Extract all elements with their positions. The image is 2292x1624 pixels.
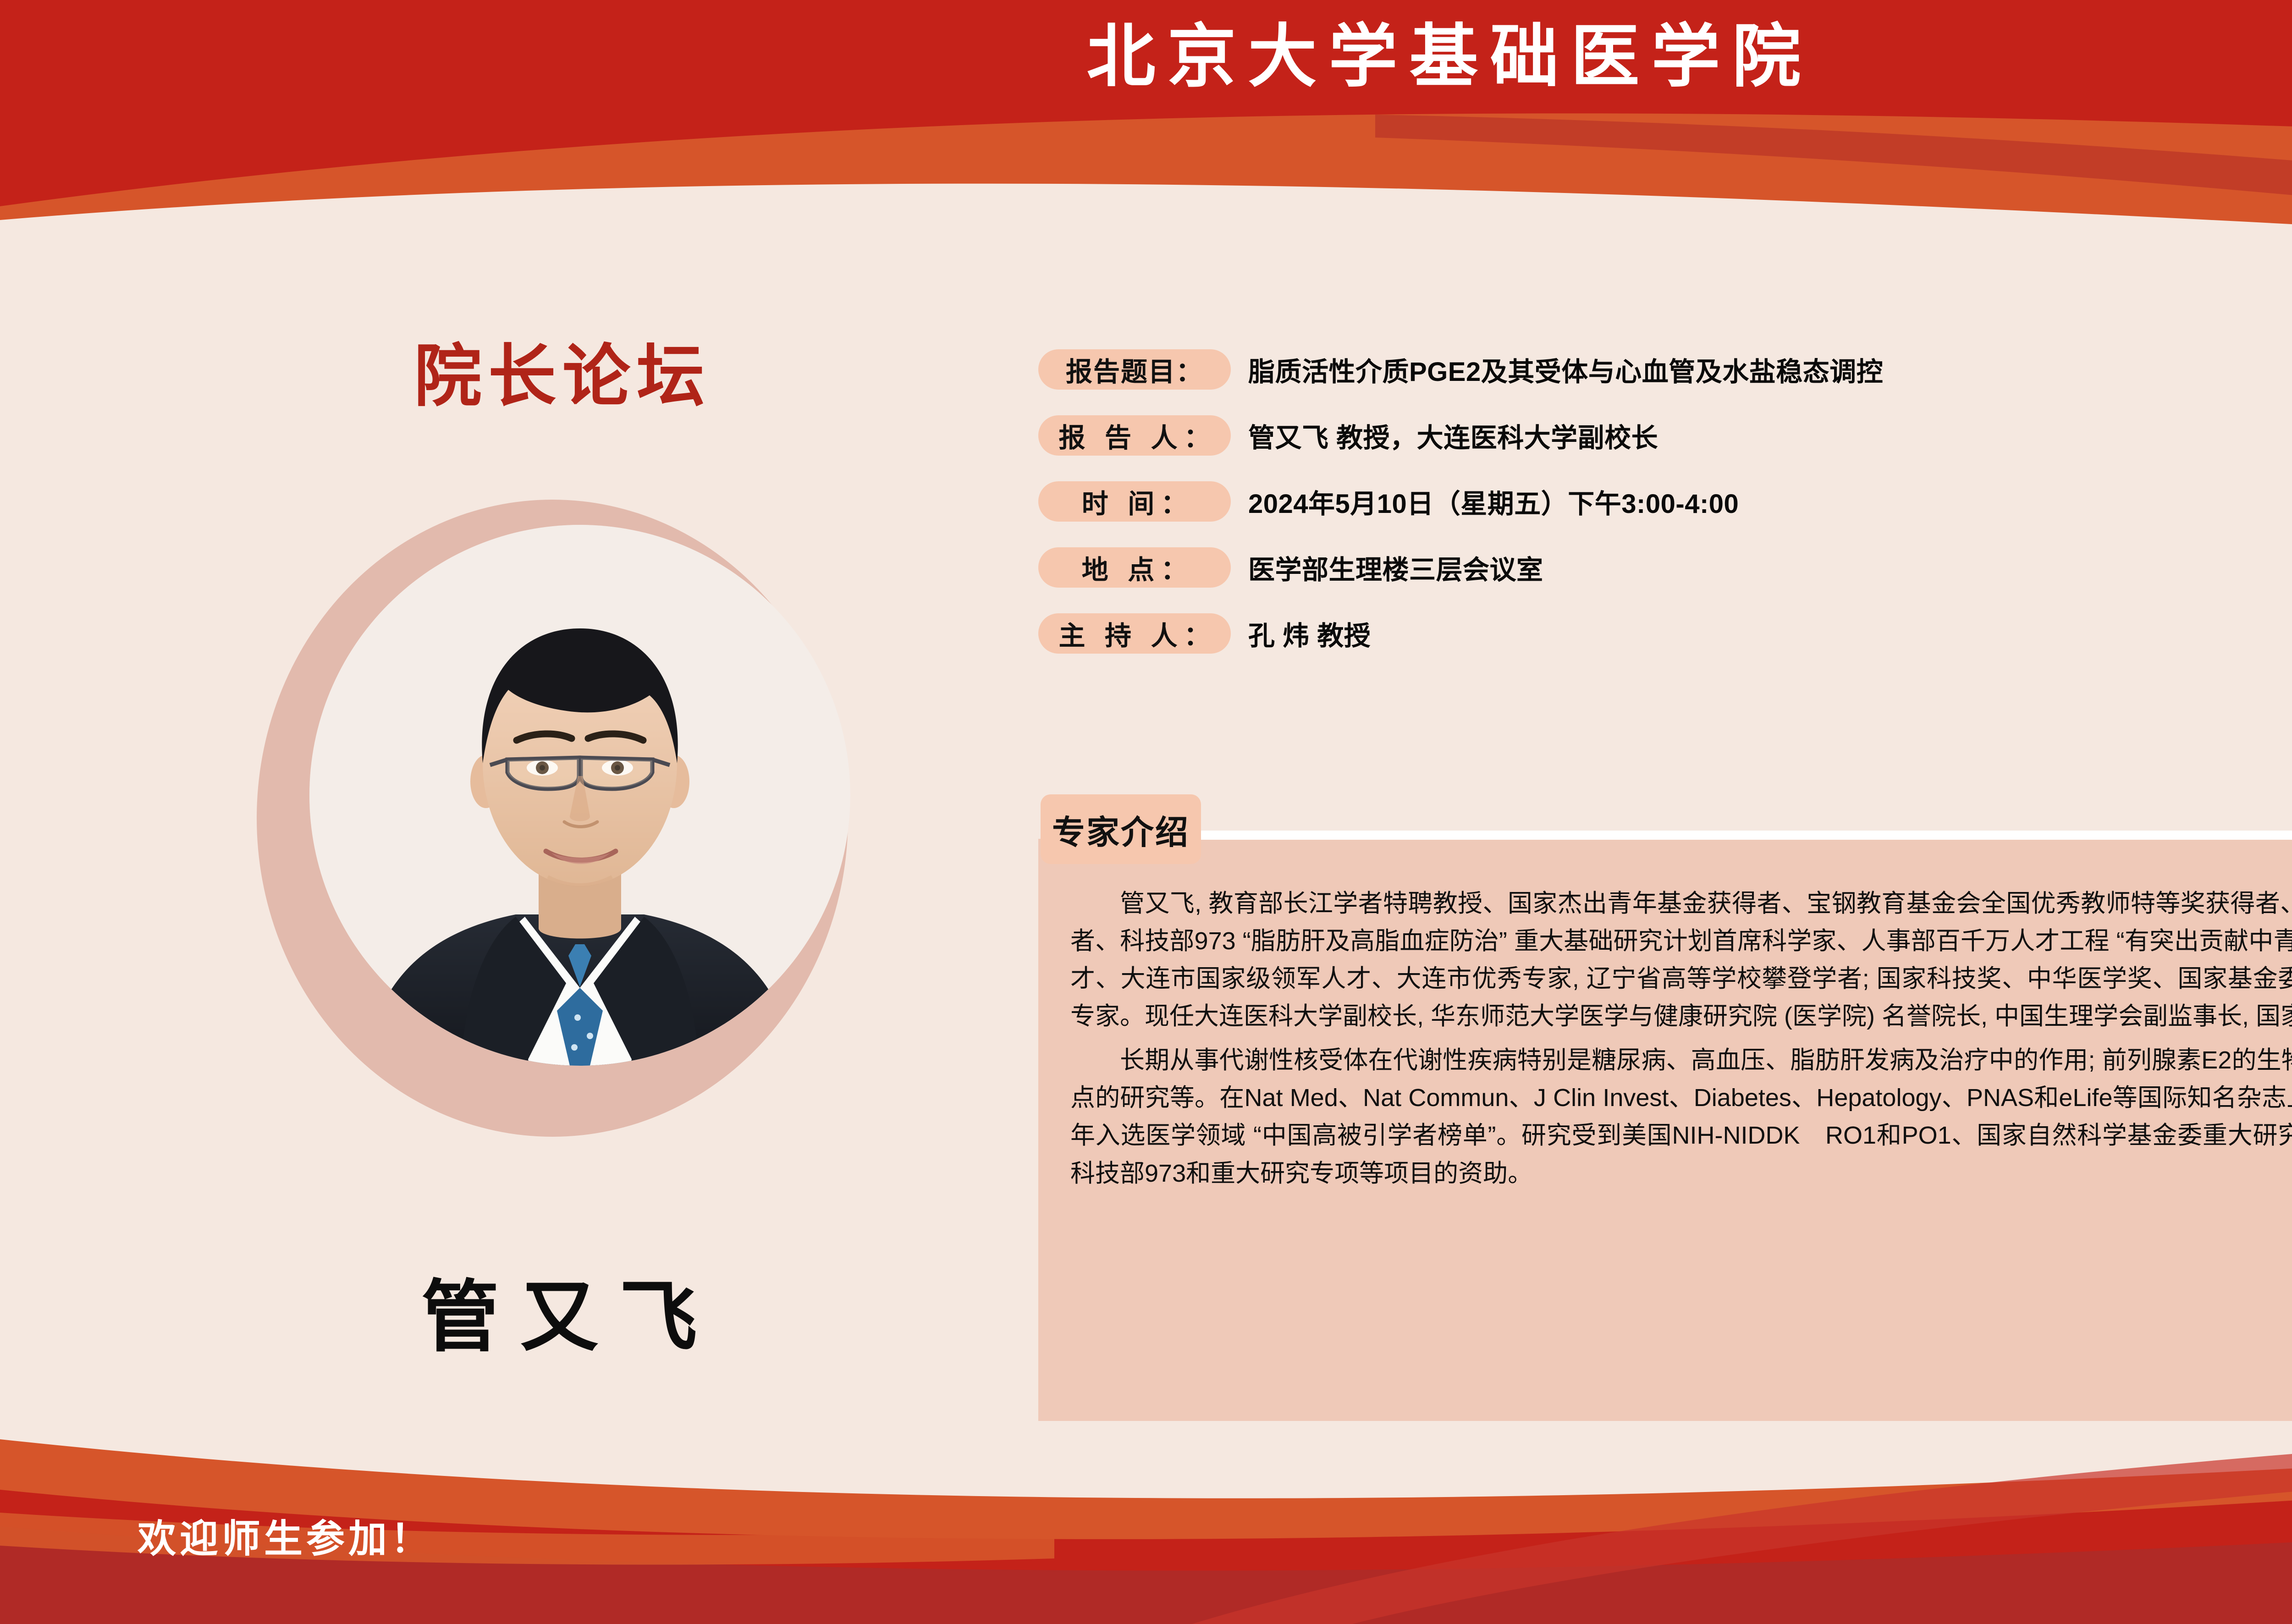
info-label-topic-text: 报告题目： (1066, 350, 1203, 389)
info-row-speaker: 报 告 人： 管又飞 教授，大连医科大学副校长 (1038, 414, 2292, 457)
info-label-venue: 地 点： (1038, 547, 1231, 588)
speaker-photo (183, 435, 917, 1261)
info-label-venue-text: 地 点： (1075, 548, 1194, 587)
speaker-name-calligraphy: 管又飞 (275, 1254, 843, 1366)
footer-welcome-text: 欢迎师生参加！ (138, 1508, 433, 1563)
intro-divider-rule (1128, 831, 2292, 840)
expert-intro-body: 管又飞, 教育部长江学者特聘教授、国家杰出青年基金获得者、宝钢教育基金会全国优秀… (1070, 885, 2292, 1199)
expert-intro-tag-text: 专家介绍 (1052, 805, 1190, 853)
info-label-host: 主 持 人： (1038, 613, 1231, 654)
photo-circle-frame (309, 525, 850, 1066)
info-value-speaker: 管又飞 教授，大连医科大学副校长 (1248, 416, 1658, 455)
intro-paragraph-1: 管又飞, 教育部长江学者特聘教授、国家杰出青年基金获得者、宝钢教育基金会全国优秀… (1070, 885, 2292, 1035)
info-label-time: 时 间： (1038, 481, 1231, 522)
info-rows: 报告题目： 脂质活性介质PGE2及其受体与心血管及水盐稳态调控 报 告 人： 管… (1038, 348, 2292, 678)
intro-paragraph-2: 长期从事代谢性核受体在代谢性疾病特别是糖尿病、高血压、脂肪肝发病及治疗中的作用;… (1070, 1041, 2292, 1192)
info-value-time: 2024年5月10日（星期五）下午3:00-4:00 (1248, 482, 1739, 521)
info-row-host: 主 持 人： 孔 炜 教授 (1038, 612, 2292, 655)
info-row-time: 时 间： 2024年5月10日（星期五）下午3:00-4:00 (1038, 480, 2292, 523)
poster-header: 北京大学基础医学院 (0, 0, 2292, 211)
info-value-host: 孔 炜 教授 (1248, 614, 1371, 653)
info-label-time-text: 时 间： (1075, 482, 1194, 521)
info-value-venue: 医学部生理楼三层会议室 (1248, 548, 1543, 587)
seminar-poster: 北京大学基础医学院 1954 1954-2024 北京大学基础医学院 Schoo… (0, 0, 2292, 1624)
info-row-venue: 地 点： 医学部生理楼三层会议室 (1038, 546, 2292, 589)
expert-intro-tag: 专家介绍 (1041, 794, 1201, 864)
portrait-image (309, 525, 850, 1066)
info-label-host-text: 主 持 人： (1052, 614, 1217, 653)
info-label-speaker: 报 告 人： (1038, 415, 1231, 456)
info-row-topic: 报告题目： 脂质活性介质PGE2及其受体与心血管及水盐稳态调控 (1038, 348, 2292, 391)
forum-title: 院长论坛 (303, 321, 816, 419)
info-value-topic: 脂质活性介质PGE2及其受体与心血管及水盐稳态调控 (1248, 350, 1883, 389)
info-label-topic: 报告题目： (1038, 349, 1231, 390)
page-title: 北京大学基础医学院 (0, 15, 2292, 101)
info-label-speaker-text: 报 告 人： (1052, 416, 1217, 455)
